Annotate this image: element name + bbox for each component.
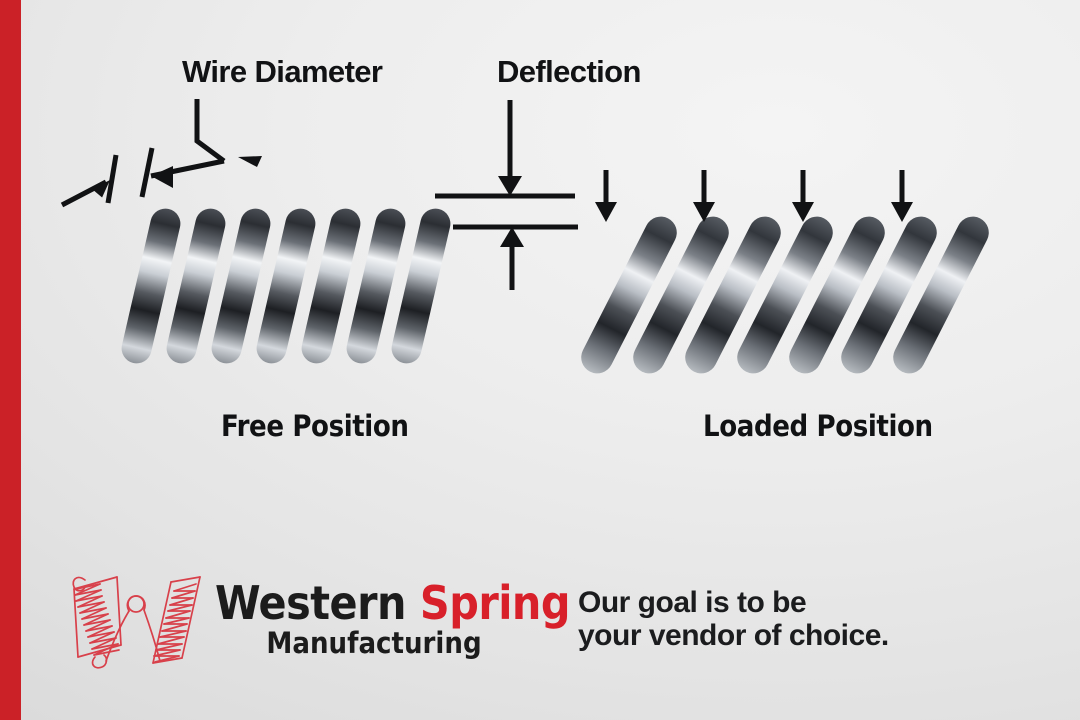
free-position-caption: Free Position bbox=[221, 409, 409, 443]
load-arrow bbox=[595, 170, 617, 222]
brand-word-spring: Spring bbox=[420, 576, 570, 630]
deflection-top-arrow bbox=[498, 100, 522, 196]
deflection-bottom-arrow bbox=[500, 227, 524, 290]
infographic-canvas: Wire Diameter Deflection Free Position L… bbox=[0, 0, 1080, 720]
deflection-label: Deflection bbox=[497, 54, 641, 90]
tagline: Our goal is to be your vendor of choice. bbox=[578, 586, 889, 652]
loaded-position-caption: Loaded Position bbox=[703, 409, 933, 443]
brand-word-western: Western bbox=[215, 576, 406, 630]
load-arrow bbox=[891, 170, 913, 222]
wire-diameter-ticks bbox=[108, 148, 152, 203]
load-arrows bbox=[595, 170, 913, 222]
brand-wordmark: Western Spring Manufacturing bbox=[215, 580, 515, 675]
wire-diameter-label: Wire Diameter bbox=[182, 54, 382, 90]
brand-word-manufacturing: Manufacturing bbox=[215, 626, 515, 660]
load-arrow bbox=[693, 170, 715, 222]
wire-diameter-leader bbox=[151, 99, 262, 188]
load-arrow bbox=[792, 170, 814, 222]
brand-logo: Western Spring Manufacturing bbox=[63, 562, 523, 677]
spring-w-logo-icon bbox=[63, 562, 208, 674]
